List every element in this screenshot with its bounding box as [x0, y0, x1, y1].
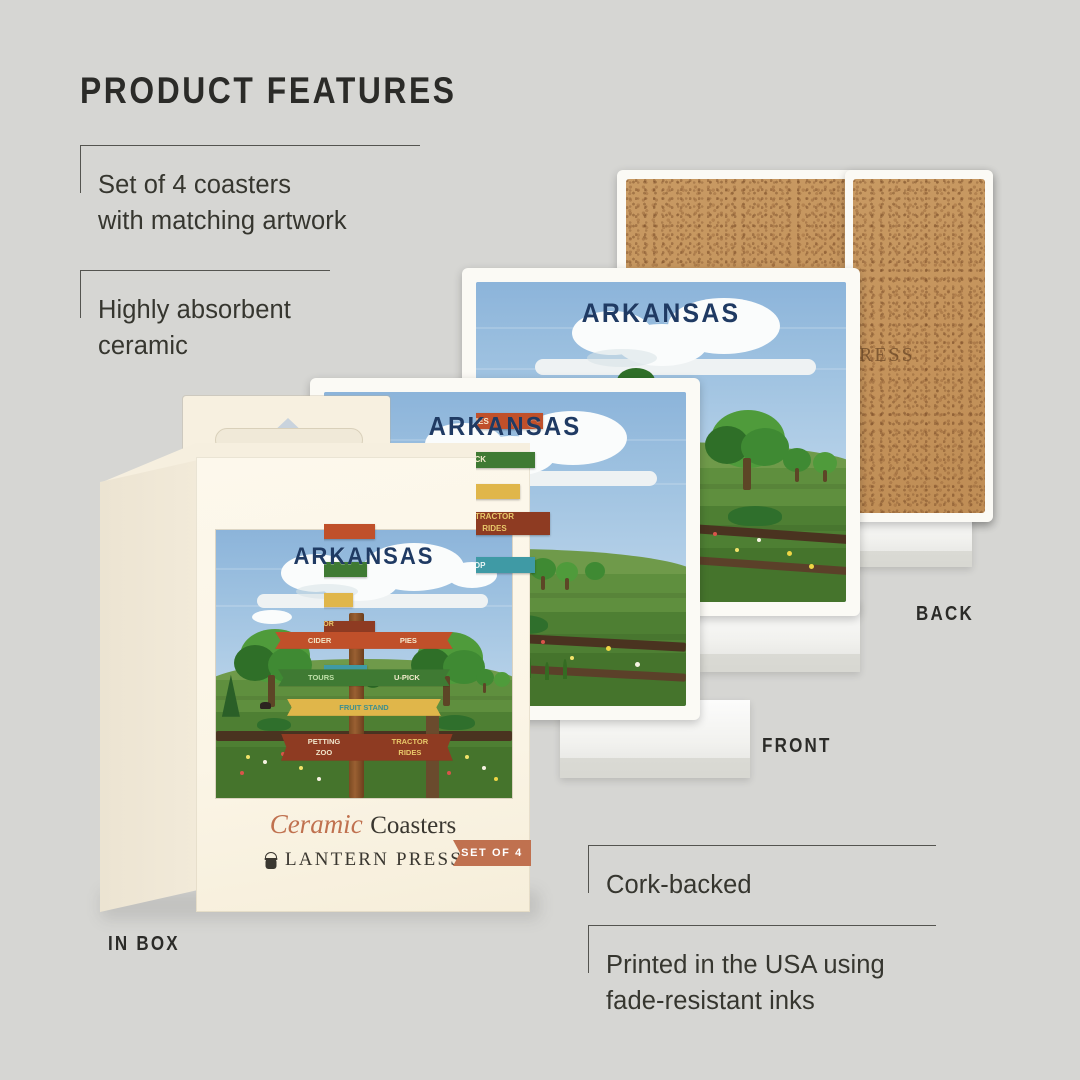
brand-serif-word: Coasters [370, 812, 456, 839]
publisher-name: LANTERN PRESS [285, 849, 463, 871]
bracket-top-line [588, 845, 936, 846]
product-feature-graphic: PRODUCT FEATURES Set of 4 coasters with … [0, 0, 1080, 1080]
bracket-left-stem [588, 845, 589, 893]
sign-cider-pies: CIDER PIES [275, 632, 453, 649]
feature-text: Printed in the USA using fade-resistant … [606, 947, 1036, 1019]
artwork-title-front: ARKANSAS [338, 411, 671, 442]
sign-tractor-rides-middle: TRACTOR RIDES [476, 512, 550, 535]
sign-fruit-stand-front: D [324, 593, 353, 607]
lantern-icon [263, 852, 278, 869]
caption-back: BACK [916, 603, 974, 626]
coaster-back: RESS [845, 170, 993, 522]
sign-petting-tractor: PETTINGZOO TRACTORRIDES [281, 734, 453, 761]
sign-tours-upick: TOURS U-PICK [278, 669, 450, 686]
box-artwork-window: ARKANSAS [216, 530, 512, 798]
sign-tours-upick-middle: U-PICK [476, 452, 535, 468]
brand-line-ceramic-coasters: Ceramic Coasters [196, 809, 530, 840]
horse-figure [260, 702, 271, 709]
caption-in-box: IN BOX [108, 933, 180, 956]
cork-surface: RESS [853, 179, 985, 513]
set-of-4-badge: SET OF 4 [453, 840, 531, 866]
cork-branding-text: RESS [859, 344, 915, 367]
bracket-top-line [588, 925, 936, 926]
bracket-left-stem [80, 270, 81, 318]
feature-text: Cork-backed [606, 867, 946, 903]
feature-text: Set of 4 coasters with matching artwork [98, 167, 478, 239]
artwork-title-box: ARKANSAS [228, 543, 500, 571]
stand-side [700, 654, 860, 672]
bracket-left-stem [80, 145, 81, 193]
sign-cider-pies-front: IES [324, 524, 375, 539]
brand-script-word: Ceramic [270, 809, 363, 839]
bracket-top-line [80, 270, 330, 271]
bracket-left-stem [588, 925, 589, 973]
sign-fruit-stand-middle: ND [476, 484, 520, 499]
stand-side [560, 758, 750, 778]
bracket-top-line [80, 145, 420, 146]
caption-front: FRONT [762, 735, 832, 758]
page-title: PRODUCT FEATURES [80, 70, 457, 112]
box-side-panel [100, 460, 198, 912]
sign-fruit-stand: FRUIT STAND [287, 699, 441, 716]
feature-text: Highly absorbent ceramic [98, 292, 428, 364]
artwork-title-middle: ARKANSAS [491, 298, 831, 329]
